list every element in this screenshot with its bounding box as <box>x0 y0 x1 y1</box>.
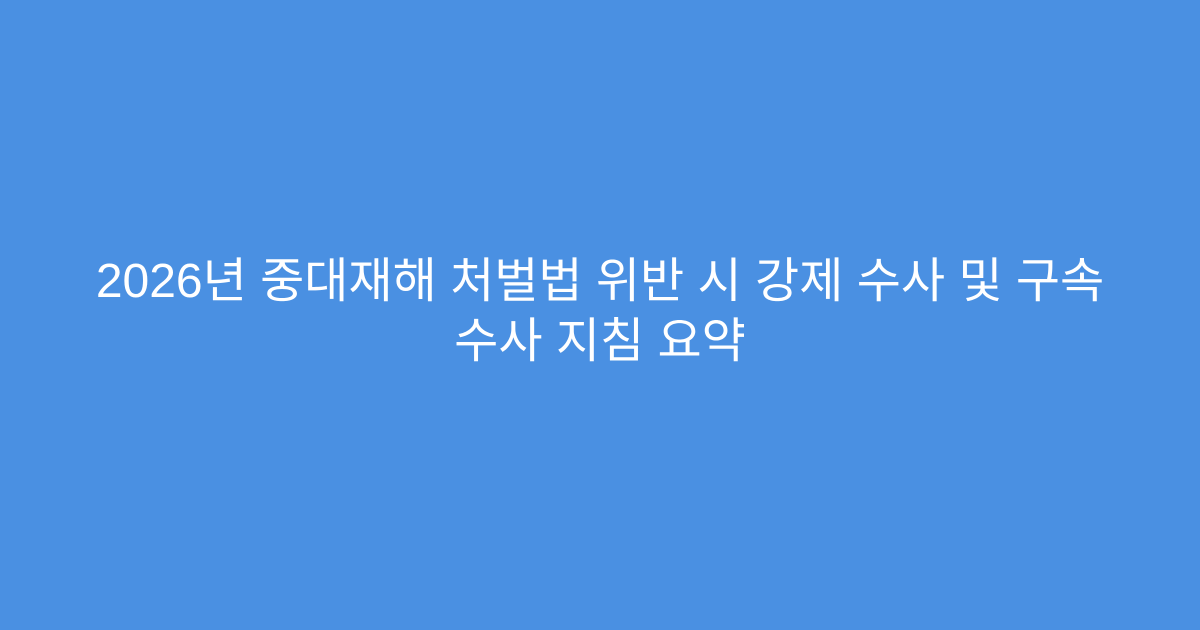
og-image-card: 2026년 중대재해 처벌법 위반 시 강제 수사 및 구속 수사 지침 요약 <box>0 0 1200 630</box>
headline-block: 2026년 중대재해 처벌법 위반 시 강제 수사 및 구속 수사 지침 요약 <box>48 252 1152 372</box>
page-title: 2026년 중대재해 처벌법 위반 시 강제 수사 및 구속 수사 지침 요약 <box>48 252 1152 372</box>
